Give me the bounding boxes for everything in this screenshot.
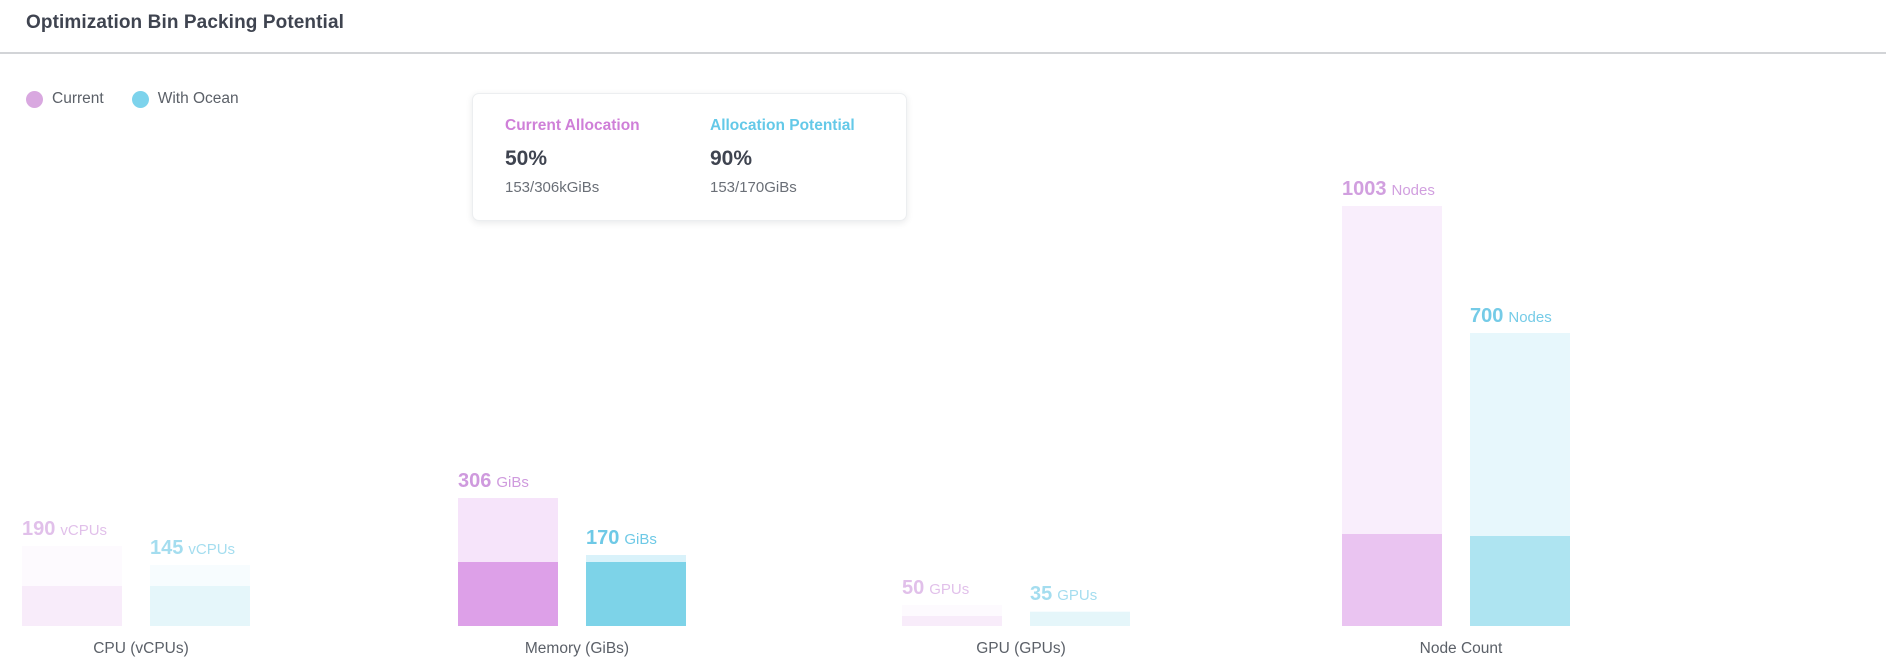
bar-value-label: 35GPUs (1030, 584, 1130, 604)
bar-stack (150, 565, 250, 626)
bar-current[interactable] (902, 605, 1002, 626)
bar-value-label: 190vCPUs (22, 519, 122, 539)
bar-segment-used (458, 562, 558, 626)
bar-value-number: 190 (22, 518, 55, 540)
tooltip-column-potential: Allocation Potential 90% 153/170GiBs (710, 117, 885, 196)
bar-value-label: 50GPUs (902, 578, 1002, 598)
axis-category-label: Node Count (1342, 640, 1580, 658)
bar-value-number: 1003 (1342, 178, 1387, 200)
bar-stack (1342, 206, 1442, 626)
bar-with-ocean[interactable] (586, 555, 686, 626)
bar-segment-used (22, 586, 122, 626)
bar-current[interactable] (22, 546, 122, 626)
bar-value-number: 306 (458, 470, 491, 492)
bar-value-label: 1003Nodes (1342, 179, 1442, 199)
bar-segment-capacity (458, 498, 558, 562)
bar-value-unit: GiBs (624, 531, 657, 548)
bar-stack (22, 546, 122, 626)
bar-value-unit: Nodes (1392, 182, 1435, 199)
axis-category-label: GPU (GPUs) (902, 640, 1140, 658)
tooltip-potential-value: 90% (710, 147, 885, 171)
tooltip-potential-heading: Allocation Potential (710, 117, 885, 135)
bar-group[interactable]: 1003Nodes700NodesNode Count (1342, 120, 1580, 626)
bar-segment-capacity (586, 555, 686, 562)
bar-value-label: 145vCPUs (150, 538, 250, 558)
bin-packing-panel: Optimization Bin Packing Potential Curre… (0, 0, 1886, 666)
bar-segment-used (902, 616, 1002, 626)
tooltip-column-current: Current Allocation 50% 153/306kGiBs (505, 117, 680, 196)
bar-value-number: 700 (1470, 305, 1503, 327)
axis-category-label: CPU (vCPUs) (22, 640, 260, 658)
bar-with-ocean[interactable] (1030, 611, 1130, 626)
bar-segment-capacity (902, 605, 1002, 616)
bar-groups-container: 190vCPUs145vCPUsCPU (vCPUs)306GiBs170GiB… (0, 0, 1886, 666)
bar-group-inner: 50GPUs35GPUs (902, 120, 1140, 626)
bar-segment-used (150, 586, 250, 626)
bar-segment-capacity (150, 565, 250, 586)
bar-segment-used (1470, 536, 1570, 626)
tooltip-potential-sub: 153/170GiBs (710, 179, 885, 196)
bar-segment-used (586, 562, 686, 626)
bar-value-number: 35 (1030, 583, 1052, 605)
bar-value-unit: vCPUs (60, 522, 107, 539)
bar-segment-capacity (1342, 206, 1442, 534)
bar-value-label: 306GiBs (458, 471, 558, 491)
bar-stack (458, 498, 558, 626)
tooltip-current-heading: Current Allocation (505, 117, 680, 135)
bar-segment-capacity (22, 546, 122, 586)
bar-with-ocean[interactable] (150, 565, 250, 626)
bar-with-ocean[interactable] (1470, 333, 1570, 626)
bar-group[interactable]: 50GPUs35GPUsGPU (GPUs) (902, 120, 1140, 626)
chart-plot-area: 190vCPUs145vCPUsCPU (vCPUs)306GiBs170GiB… (0, 0, 1886, 666)
tooltip-current-sub: 153/306kGiBs (505, 179, 680, 196)
bar-value-unit: GPUs (929, 581, 969, 598)
bar-stack (1030, 611, 1130, 626)
bar-group[interactable]: 190vCPUs145vCPUsCPU (vCPUs) (22, 120, 260, 626)
bar-segment-used (1342, 534, 1442, 626)
bar-value-number: 145 (150, 537, 183, 559)
bar-current[interactable] (1342, 206, 1442, 626)
tooltip-current-value: 50% (505, 147, 680, 171)
bar-stack (1470, 333, 1570, 626)
bar-value-unit: GPUs (1057, 587, 1097, 604)
bar-segment-capacity (1470, 333, 1570, 536)
bar-value-unit: vCPUs (188, 541, 235, 558)
bar-value-unit: GiBs (496, 474, 529, 491)
bar-value-label: 700Nodes (1470, 306, 1570, 326)
bar-value-unit: Nodes (1508, 309, 1551, 326)
bar-current[interactable] (458, 498, 558, 626)
bar-stack (586, 555, 686, 626)
bar-group-inner: 190vCPUs145vCPUs (22, 120, 260, 626)
bar-stack (902, 605, 1002, 626)
bar-value-label: 170GiBs (586, 528, 686, 548)
bar-value-number: 170 (586, 527, 619, 549)
axis-category-label: Memory (GiBs) (458, 640, 696, 658)
bar-value-number: 50 (902, 577, 924, 599)
allocation-tooltip-card: Current Allocation 50% 153/306kGiBs Allo… (472, 93, 907, 221)
bar-group-inner: 1003Nodes700Nodes (1342, 120, 1580, 626)
bar-segment-used (1030, 612, 1130, 626)
